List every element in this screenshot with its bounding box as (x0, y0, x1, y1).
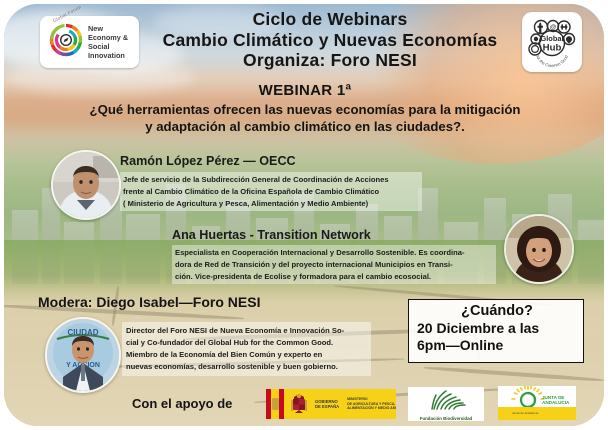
when-date: 20 Diciembre a las 6pm—Online (417, 320, 577, 353)
speaker-2-bio: Especialista en Cooperación Internaciona… (172, 245, 496, 284)
speaker-1-avatar (51, 150, 121, 220)
speaker-1-bio-line-1: Jefe de servicio de la Subdirección Gene… (123, 174, 419, 186)
nesi-word-economy: Economy & (88, 33, 128, 42)
speaker-2-bio-line-2: dora de Red de Transición y del proyecto… (175, 259, 493, 271)
webinar-headline: WEBINAR 1ª ¿Qué herramientas ofrecen las… (24, 82, 586, 135)
speaker-2-bio-line-3: ción. Vice-presidenta de Ecolise y forma… (175, 271, 493, 283)
speaker-2-avatar (504, 214, 574, 284)
moderator-bio: Director del Foro NESI de Nueva Economía… (122, 322, 371, 376)
speaker-2-name: Ana Huertas - Transition Network (172, 228, 371, 242)
fundacion-biodiversidad-logo: Fundación Biodiversidad (408, 387, 484, 421)
svg-text:ANDALUCIA: ANDALUCIA (542, 400, 570, 405)
when-question: ¿Cuándo? (417, 303, 577, 319)
spain-coat-of-arms-icon (287, 392, 311, 416)
gobierno-line-2: DE ESPAÑA (315, 404, 339, 409)
poster-title: Ciclo de Webinars Cambio Climático y Nue… (144, 9, 516, 71)
nesi-wordmark: New Economy & Social Innovation (88, 24, 128, 60)
ministerio-line-3: ALIMENTACIÓN Y MEDIO AMBIENTE (347, 406, 396, 411)
when-date-line-1: 20 Diciembre a las (417, 320, 577, 337)
svg-text:@: @ (550, 24, 557, 31)
moderator-bio-line-4: nuevas economías, desarrollo sostenible … (126, 361, 367, 373)
webinar-poster: Global Forum (0, 0, 608, 430)
fundacion-biodiversidad-caption: Fundación Biodiversidad (420, 416, 472, 421)
nesi-word-new: New (88, 24, 128, 33)
title-line-3: Organiza: Foro NESI (144, 50, 516, 71)
moderator-label: Modera: Diego Isabel—Foro NESI (38, 294, 260, 310)
speaker-1-bio-line-3: ( Ministerio de Agricultura y Pesca, Ali… (123, 198, 419, 210)
grass-icon (424, 388, 468, 415)
webinar-question-line-2: y adaptación al cambio climático en las … (24, 118, 586, 135)
title-line-2: Cambio Climático y Nuevas Economías (144, 30, 516, 51)
gobierno-wordmark: GOBIERNO DE ESPAÑA (315, 399, 339, 410)
global-hub-word-hub: Hub (543, 43, 562, 54)
andalucia-footer-text: Junta de Andalucía (512, 412, 538, 416)
speaker-1-name: Ramón López Pérez — OECC (120, 154, 296, 168)
nesi-global-forum-label: Global Forum (52, 4, 82, 23)
when-box: ¿Cuándo? 20 Diciembre a las 6pm—Online (408, 299, 584, 363)
nesi-word-social: Social (88, 42, 128, 51)
when-date-line-2: 6pm—Online (417, 337, 577, 354)
andalucia-footer-bar: Junta de Andalucía (498, 407, 576, 420)
gobierno-de-espana-logo: GOBIERNO DE ESPAÑA MINISTERIO DE AGRICUL… (266, 389, 396, 419)
webinar-question: ¿Qué herramientas ofrecen las nuevas eco… (24, 101, 586, 135)
moderator-bio-line-1: Director del Foro NESI de Nueva Economía… (126, 325, 367, 337)
speaker-1-bio: Jefe de servicio de la Subdirección Gene… (120, 172, 422, 211)
andalucia-sun-icon: JUNTA DE ANDALUCIA (498, 386, 576, 407)
nesi-ring-icon (49, 23, 83, 62)
svg-text:CIUDAD: CIUDAD (67, 328, 98, 337)
global-hub-logo: @ Global Hub for the Com (522, 12, 582, 72)
speaker-2-bio-line-1: Especialista en Cooperación Internaciona… (175, 247, 493, 259)
speaker-1-bio-line-2: frente al Cambio Climático de la Oficina… (123, 186, 419, 198)
poster-header: Global Forum (4, 4, 604, 76)
webinar-number: WEBINAR 1ª (24, 82, 586, 99)
junta-de-andalucia-logo: JUNTA DE ANDALUCIA Junta de Andalucía (498, 386, 576, 420)
moderator-bio-line-3: Miembro de la Economía del Bien Común y … (126, 349, 367, 361)
poster-plate: Global Forum (4, 4, 604, 426)
support-label: Con el apoyo de (132, 396, 232, 411)
new-economy-social-innovation-logo: Global Forum (40, 16, 139, 68)
webinar-question-line-1: ¿Qué herramientas ofrecen las nuevas eco… (24, 101, 586, 118)
spain-flag-icon (266, 389, 284, 419)
ministerio-wordmark: MINISTERIO DE AGRICULTURA Y PESCA, ALIME… (347, 397, 396, 411)
moderator-bio-line-2: cial y Co-fundador del Global Hub for th… (126, 337, 367, 349)
nesi-word-innovation: Innovation (88, 51, 128, 60)
moderator-avatar: CIUDAD Y ACCION (45, 317, 121, 393)
title-line-1: Ciclo de Webinars (144, 9, 516, 30)
